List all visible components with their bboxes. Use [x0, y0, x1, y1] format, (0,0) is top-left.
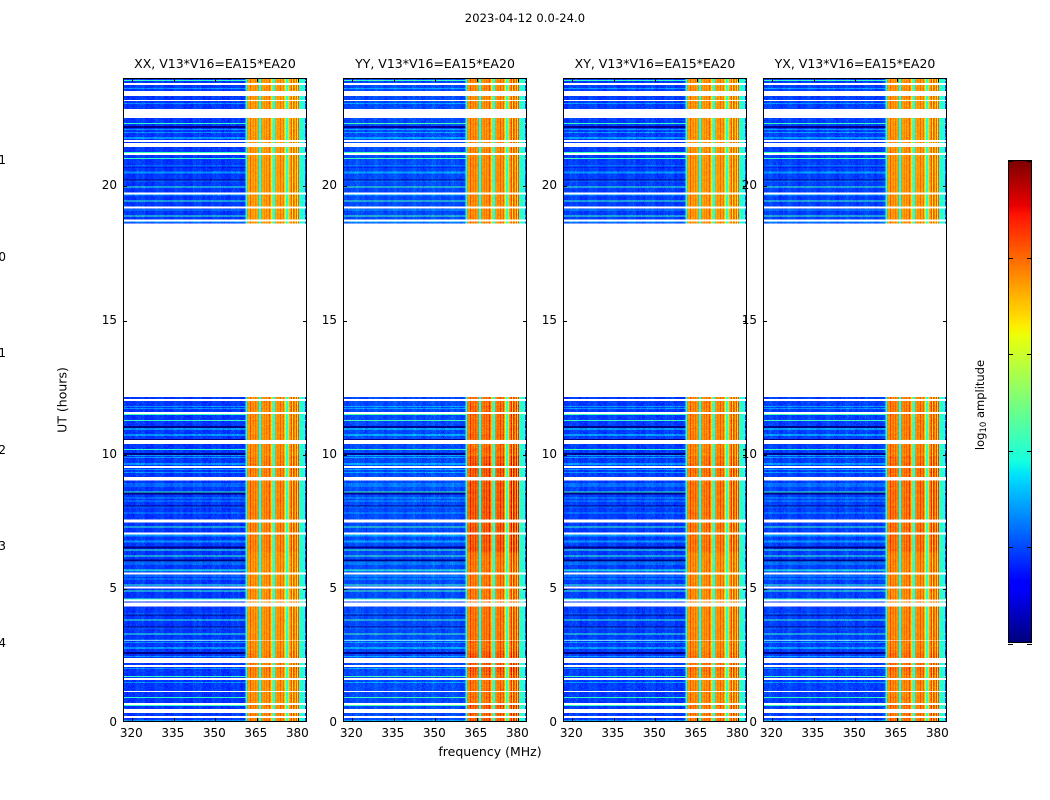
x-tick-mark [938, 78, 939, 82]
y-tick-mark [343, 321, 347, 322]
y-tick-label: 10 [533, 447, 557, 461]
y-tick-mark [763, 186, 767, 187]
y-tick-label: 5 [733, 581, 757, 595]
x-tick-mark [738, 78, 739, 82]
y-tick-mark [343, 186, 347, 187]
x-tick-mark [352, 718, 353, 722]
y-tick-label: 0 [93, 715, 117, 729]
x-tick-mark [655, 718, 656, 722]
x-tick-mark [518, 78, 519, 82]
x-tick-label: 335 [161, 726, 184, 740]
colorbar-tick-mark [1027, 451, 1032, 452]
x-tick-label: 350 [643, 726, 666, 740]
y-tick-mark [123, 589, 127, 590]
colorbar-tick-label: −4 [0, 636, 6, 650]
x-tick-mark [938, 718, 939, 722]
y-tick-label: 15 [93, 313, 117, 327]
x-tick-label: 320 [560, 726, 583, 740]
y-tick-mark [343, 589, 347, 590]
x-tick-mark [697, 78, 698, 82]
colorbar-tick-label: −3 [0, 539, 6, 553]
colorbar-tick-mark [1027, 644, 1032, 645]
x-tick-mark [772, 718, 773, 722]
y-tick-mark [303, 321, 307, 322]
x-tick-mark [394, 78, 395, 82]
y-tick-mark [343, 455, 347, 456]
y-tick-mark [303, 186, 307, 187]
y-tick-label: 0 [733, 715, 757, 729]
heatmap-panel-xy[interactable] [563, 78, 747, 722]
x-tick-mark [132, 718, 133, 722]
y-tick-label: 20 [93, 178, 117, 192]
y-tick-label: 15 [313, 313, 337, 327]
y-tick-label: 20 [733, 178, 757, 192]
colorbar-label-prefix: log [973, 433, 987, 451]
y-tick-mark [123, 186, 127, 187]
y-tick-mark [763, 455, 767, 456]
colorbar-tick-label: 0 [0, 250, 6, 264]
heatmap-panel-xx[interactable] [123, 78, 307, 722]
y-tick-mark [563, 186, 567, 187]
x-axis-label: frequency (MHz) [0, 744, 980, 759]
y-tick-mark [563, 455, 567, 456]
x-tick-mark [352, 78, 353, 82]
x-tick-label: 320 [120, 726, 143, 740]
heatmap-image-xy [564, 79, 746, 721]
x-tick-label: 335 [801, 726, 824, 740]
y-tick-mark [763, 589, 767, 590]
y-tick-mark [943, 455, 947, 456]
x-tick-mark [298, 718, 299, 722]
y-tick-label: 5 [313, 581, 337, 595]
y-tick-label: 0 [313, 715, 337, 729]
heatmap-image-yx [764, 79, 946, 721]
y-tick-label: 15 [733, 313, 757, 327]
y-tick-label: 0 [533, 715, 557, 729]
y-tick-mark [943, 186, 947, 187]
y-tick-label: 5 [533, 581, 557, 595]
x-tick-mark [394, 718, 395, 722]
figure-canvas: 2023-04-12 0.0-24.0 XX, V13*V16=EA15*EA2… [0, 0, 1050, 800]
colorbar-tick-mark [1027, 258, 1032, 259]
x-tick-mark [772, 78, 773, 82]
x-tick-label: 365 [464, 726, 487, 740]
colorbar-tick-mark [1008, 644, 1013, 645]
x-tick-label: 380 [926, 726, 949, 740]
y-tick-mark [303, 455, 307, 456]
y-tick-mark [523, 589, 527, 590]
colorbar-tick-mark [1027, 161, 1032, 162]
panel-title-yy: YY, V13*V16=EA15*EA20 [343, 56, 527, 74]
figure-suptitle: 2023-04-12 0.0-24.0 [0, 11, 1050, 25]
x-tick-label: 380 [286, 726, 309, 740]
x-tick-label: 365 [684, 726, 707, 740]
colorbar-tick-label: −1 [0, 346, 6, 360]
y-tick-mark [943, 321, 947, 322]
y-tick-label: 10 [313, 447, 337, 461]
colorbar-label-suffix: amplitude [973, 360, 987, 422]
x-tick-label: 350 [423, 726, 446, 740]
y-tick-label: 20 [313, 178, 337, 192]
x-tick-label: 335 [381, 726, 404, 740]
y-tick-label: 10 [93, 447, 117, 461]
x-tick-mark [477, 78, 478, 82]
colorbar-tick-label: 1 [0, 153, 6, 167]
y-tick-mark [123, 455, 127, 456]
panel-title-xx: XX, V13*V16=EA15*EA20 [123, 56, 307, 74]
y-tick-label: 10 [733, 447, 757, 461]
x-tick-mark [814, 78, 815, 82]
x-tick-mark [257, 78, 258, 82]
colorbar[interactable] [1008, 160, 1032, 643]
x-tick-mark [897, 718, 898, 722]
y-tick-mark [563, 589, 567, 590]
x-tick-mark [435, 718, 436, 722]
x-tick-mark [477, 718, 478, 722]
y-tick-mark [303, 589, 307, 590]
x-tick-mark [174, 718, 175, 722]
panel-title-xy: XY, V13*V16=EA15*EA20 [563, 56, 747, 74]
x-tick-mark [132, 78, 133, 82]
x-tick-mark [655, 78, 656, 82]
y-tick-label: 5 [93, 581, 117, 595]
y-tick-mark [123, 321, 127, 322]
x-tick-mark [614, 78, 615, 82]
heatmap-panel-yx[interactable] [763, 78, 947, 722]
x-tick-mark [855, 718, 856, 722]
colorbar-label: log10 amplitude [973, 360, 989, 450]
x-tick-label: 350 [843, 726, 866, 740]
colorbar-tick-label: −2 [0, 443, 6, 457]
colorbar-tick-mark [1027, 547, 1032, 548]
x-tick-mark [614, 718, 615, 722]
y-axis-label: UT (hours) [55, 367, 70, 433]
heatmap-image-yy [344, 79, 526, 721]
x-tick-mark [855, 78, 856, 82]
x-tick-label: 365 [884, 726, 907, 740]
x-tick-mark [257, 718, 258, 722]
x-tick-mark [215, 718, 216, 722]
panel-title-yx: YX, V13*V16=EA15*EA20 [763, 56, 947, 74]
colorbar-tick-mark [1008, 547, 1013, 548]
colorbar-tick-mark [1027, 354, 1032, 355]
x-tick-mark [572, 78, 573, 82]
colorbar-tick-mark [1008, 451, 1013, 452]
colorbar-tick-mark [1008, 161, 1013, 162]
x-tick-mark [897, 78, 898, 82]
colorbar-label-subscript: 10 [979, 422, 989, 433]
x-tick-label: 320 [760, 726, 783, 740]
x-tick-label: 350 [203, 726, 226, 740]
colorbar-tick-mark [1008, 354, 1013, 355]
x-tick-mark [215, 78, 216, 82]
x-tick-label: 365 [244, 726, 267, 740]
y-tick-label: 15 [533, 313, 557, 327]
x-tick-mark [814, 718, 815, 722]
y-tick-mark [523, 455, 527, 456]
heatmap-image-xx [124, 79, 306, 721]
x-tick-label: 335 [601, 726, 624, 740]
colorbar-tick-mark [1008, 258, 1013, 259]
x-tick-mark [174, 78, 175, 82]
x-tick-mark [518, 718, 519, 722]
y-tick-mark [523, 321, 527, 322]
y-tick-mark [763, 321, 767, 322]
x-tick-mark [298, 78, 299, 82]
x-tick-mark [435, 78, 436, 82]
x-tick-mark [697, 718, 698, 722]
y-tick-mark [943, 589, 947, 590]
y-tick-label: 20 [533, 178, 557, 192]
x-tick-label: 380 [506, 726, 529, 740]
x-tick-mark [572, 718, 573, 722]
heatmap-panel-yy[interactable] [343, 78, 527, 722]
x-tick-label: 320 [340, 726, 363, 740]
y-tick-mark [563, 321, 567, 322]
y-tick-mark [523, 186, 527, 187]
